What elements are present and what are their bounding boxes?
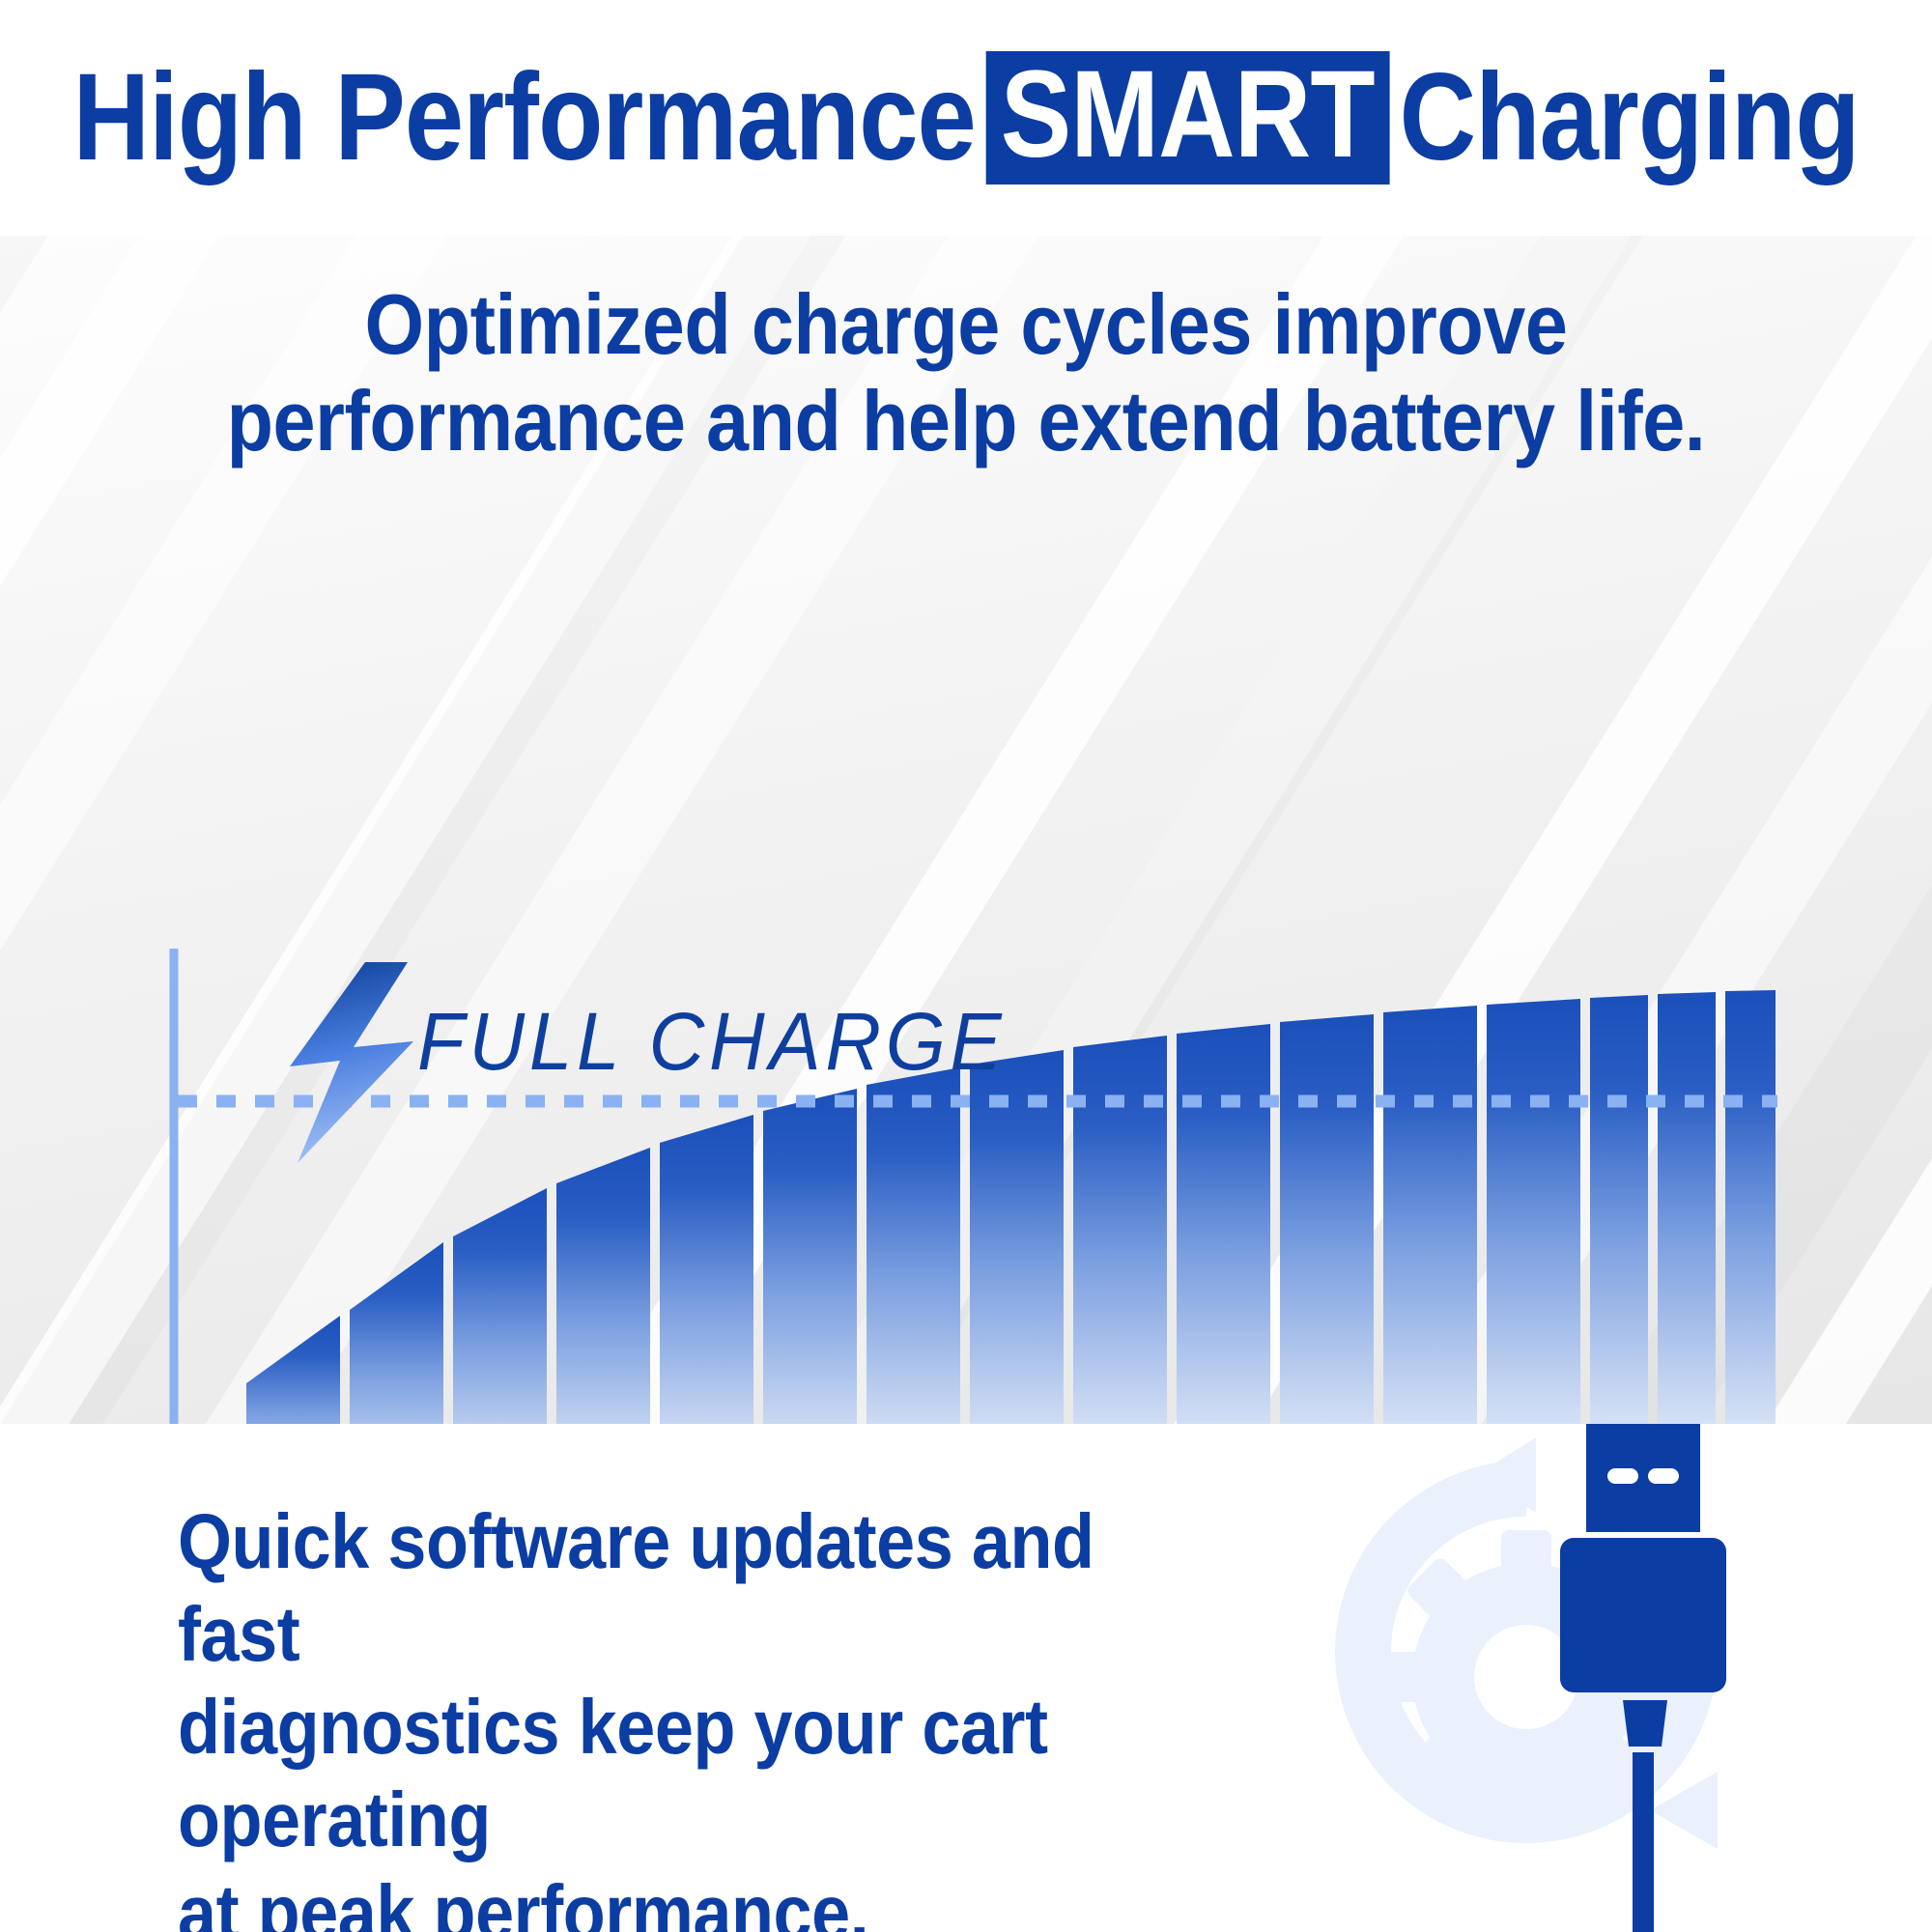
usb-slot-left [1607,1468,1638,1484]
bar-11 [1280,1014,1374,1424]
usb-slot-right [1648,1468,1679,1484]
usb-metal-tip [1586,1424,1700,1532]
usb-strain-relief [1623,1700,1667,1747]
bar-8 [970,1050,1064,1424]
bar-15 [1658,992,1716,1424]
infographic-poster: High Performance SMART Charging Optimize… [0,0,1932,1932]
lightning-bolt-icon [290,962,413,1163]
bar-12 [1383,1006,1477,1424]
footer-line-3: at peak performance. [178,1866,1212,1932]
footer-band: Quick software updates and fast diagnost… [0,1424,1932,1932]
title-band: High Performance SMART Charging [0,0,1932,236]
bar-7 [867,1067,960,1424]
bar-4 [556,1148,650,1424]
bar-16 [1725,990,1776,1424]
bar-9 [1073,1036,1167,1424]
bar-6 [763,1089,857,1424]
chart-band: Optimized charge cycles improve performa… [0,236,1932,1424]
usb-cable [1633,1752,1654,1932]
bar-14 [1590,995,1648,1424]
bar-5 [660,1115,753,1424]
title-highlight-smart: SMART [985,51,1389,185]
bar-1 [246,1316,340,1424]
bar-13 [1487,999,1580,1424]
usb-body [1560,1538,1726,1692]
bar-2 [350,1242,443,1424]
bar-3 [453,1188,547,1424]
charge-curve-bar-chart [0,236,1932,1424]
title-part-2: Charging [1399,56,1859,180]
bar-10 [1177,1024,1270,1424]
page-title: High Performance SMART Charging [72,51,1859,185]
footer-line-2: diagnostics keep your cart operating [178,1681,1212,1866]
usb-plug-icon [1198,1424,1932,1932]
footer-line-1: Quick software updates and fast [178,1495,1212,1681]
footer-description: Quick software updates and fast diagnost… [178,1495,1212,1932]
title-part-1: High Performance [72,56,975,180]
full-charge-label: FULL CHARGE [417,995,1007,1089]
